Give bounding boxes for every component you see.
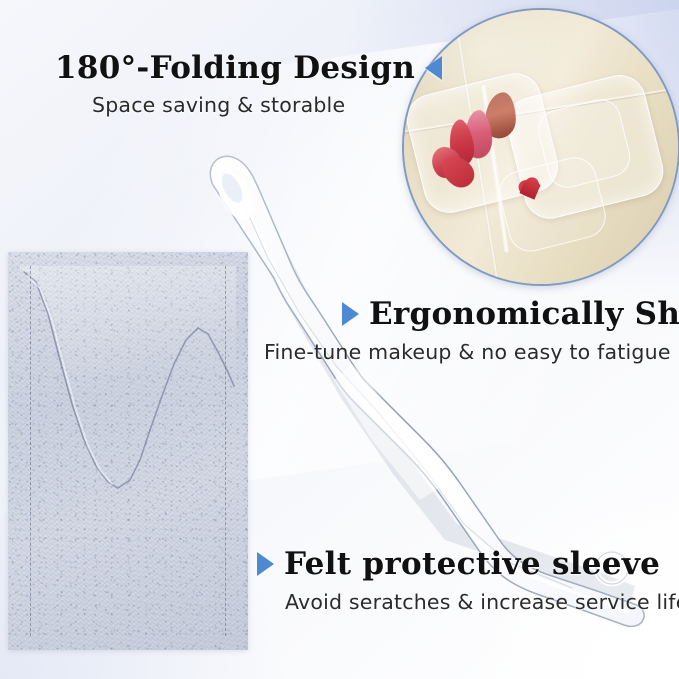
folded-palette-photo [402,8,679,286]
feature-subtitle-folding: Space saving & storable [92,93,442,117]
feature-subtitle-ergonomic: Fine-tune makeup & no easy to fatigue [264,340,679,364]
folding-heading-text: 180°-Folding Design [55,52,415,85]
feature-subtitle-felt: Avoid seratches & increase service life [285,590,679,614]
feature-block-ergonomic: Ergonomically Shaped Fine-tune makeup & … [342,298,679,364]
feature-heading-felt: Felt protective sleeve [257,548,679,581]
felt-stitch-right [225,266,226,636]
felt-heading-text: Felt protective sleeve [284,548,660,581]
triangle-right-icon [257,552,274,576]
felt-sleeve-photo [8,252,248,650]
product-infographic: 180°-Folding Design Space saving & stora… [0,0,679,679]
triangle-left-icon [425,56,442,80]
triangle-right-icon [342,302,359,326]
feature-heading-ergonomic: Ergonomically Shaped [342,298,679,331]
feature-block-folding: 180°-Folding Design Space saving & stora… [55,52,442,117]
felt-stitch-left [30,266,31,636]
feature-heading-folding: 180°-Folding Design [55,52,442,85]
ergonomic-heading-text: Ergonomically Shaped [369,298,679,331]
feature-block-felt: Felt protective sleeve Avoid seratches &… [257,548,679,614]
